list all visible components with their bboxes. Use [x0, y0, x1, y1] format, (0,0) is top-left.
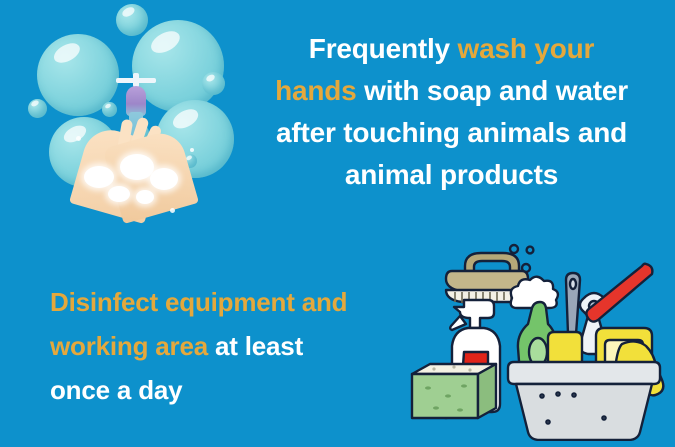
text-segment: with soap and water — [357, 75, 628, 106]
bucket-icon — [508, 362, 660, 440]
faucet-handle-stem — [133, 73, 139, 87]
text-segment: once a day — [50, 375, 182, 405]
text-segment: after touching animals and — [276, 117, 627, 148]
soap-foam — [136, 190, 154, 204]
message-line: working area at least — [50, 324, 420, 368]
cleaning-supplies-illustration — [408, 236, 670, 441]
sparkle — [76, 136, 81, 141]
sparkle — [170, 208, 175, 213]
text-segment: Disinfect equipment and — [50, 287, 347, 317]
soap-bubble-icon — [28, 99, 47, 118]
message-line: once a day — [50, 368, 420, 412]
message-line: Frequently wash your — [228, 28, 675, 70]
sponge-icon — [412, 364, 496, 418]
hands-group — [58, 130, 218, 224]
handwashing-illustration — [28, 2, 243, 224]
text-segment: animal products — [345, 159, 558, 190]
text-segment: hands — [275, 75, 356, 106]
soap-foam — [84, 166, 114, 188]
soap-foam — [120, 154, 154, 180]
message-line: after touching animals and — [228, 112, 675, 154]
text-segment: Frequently — [309, 33, 458, 64]
message-disinfect-equipment: Disinfect equipment and working area at … — [50, 280, 420, 412]
message-wash-hands: Frequently wash your hands with soap and… — [228, 28, 675, 196]
soap-bubble-icon — [116, 4, 148, 36]
message-line: hands with soap and water — [228, 70, 675, 112]
sparkle — [190, 148, 194, 152]
text-segment: working area — [50, 331, 208, 361]
text-segment: at least — [208, 331, 303, 361]
text-segment: wash your — [458, 33, 595, 64]
message-line: animal products — [228, 154, 675, 196]
soap-foam — [108, 186, 130, 202]
soap-foam — [150, 168, 178, 190]
infographic-poster: Frequently wash your hands with soap and… — [0, 0, 675, 447]
message-line: Disinfect equipment and — [50, 280, 420, 324]
soap-bubble-icon — [202, 72, 225, 95]
